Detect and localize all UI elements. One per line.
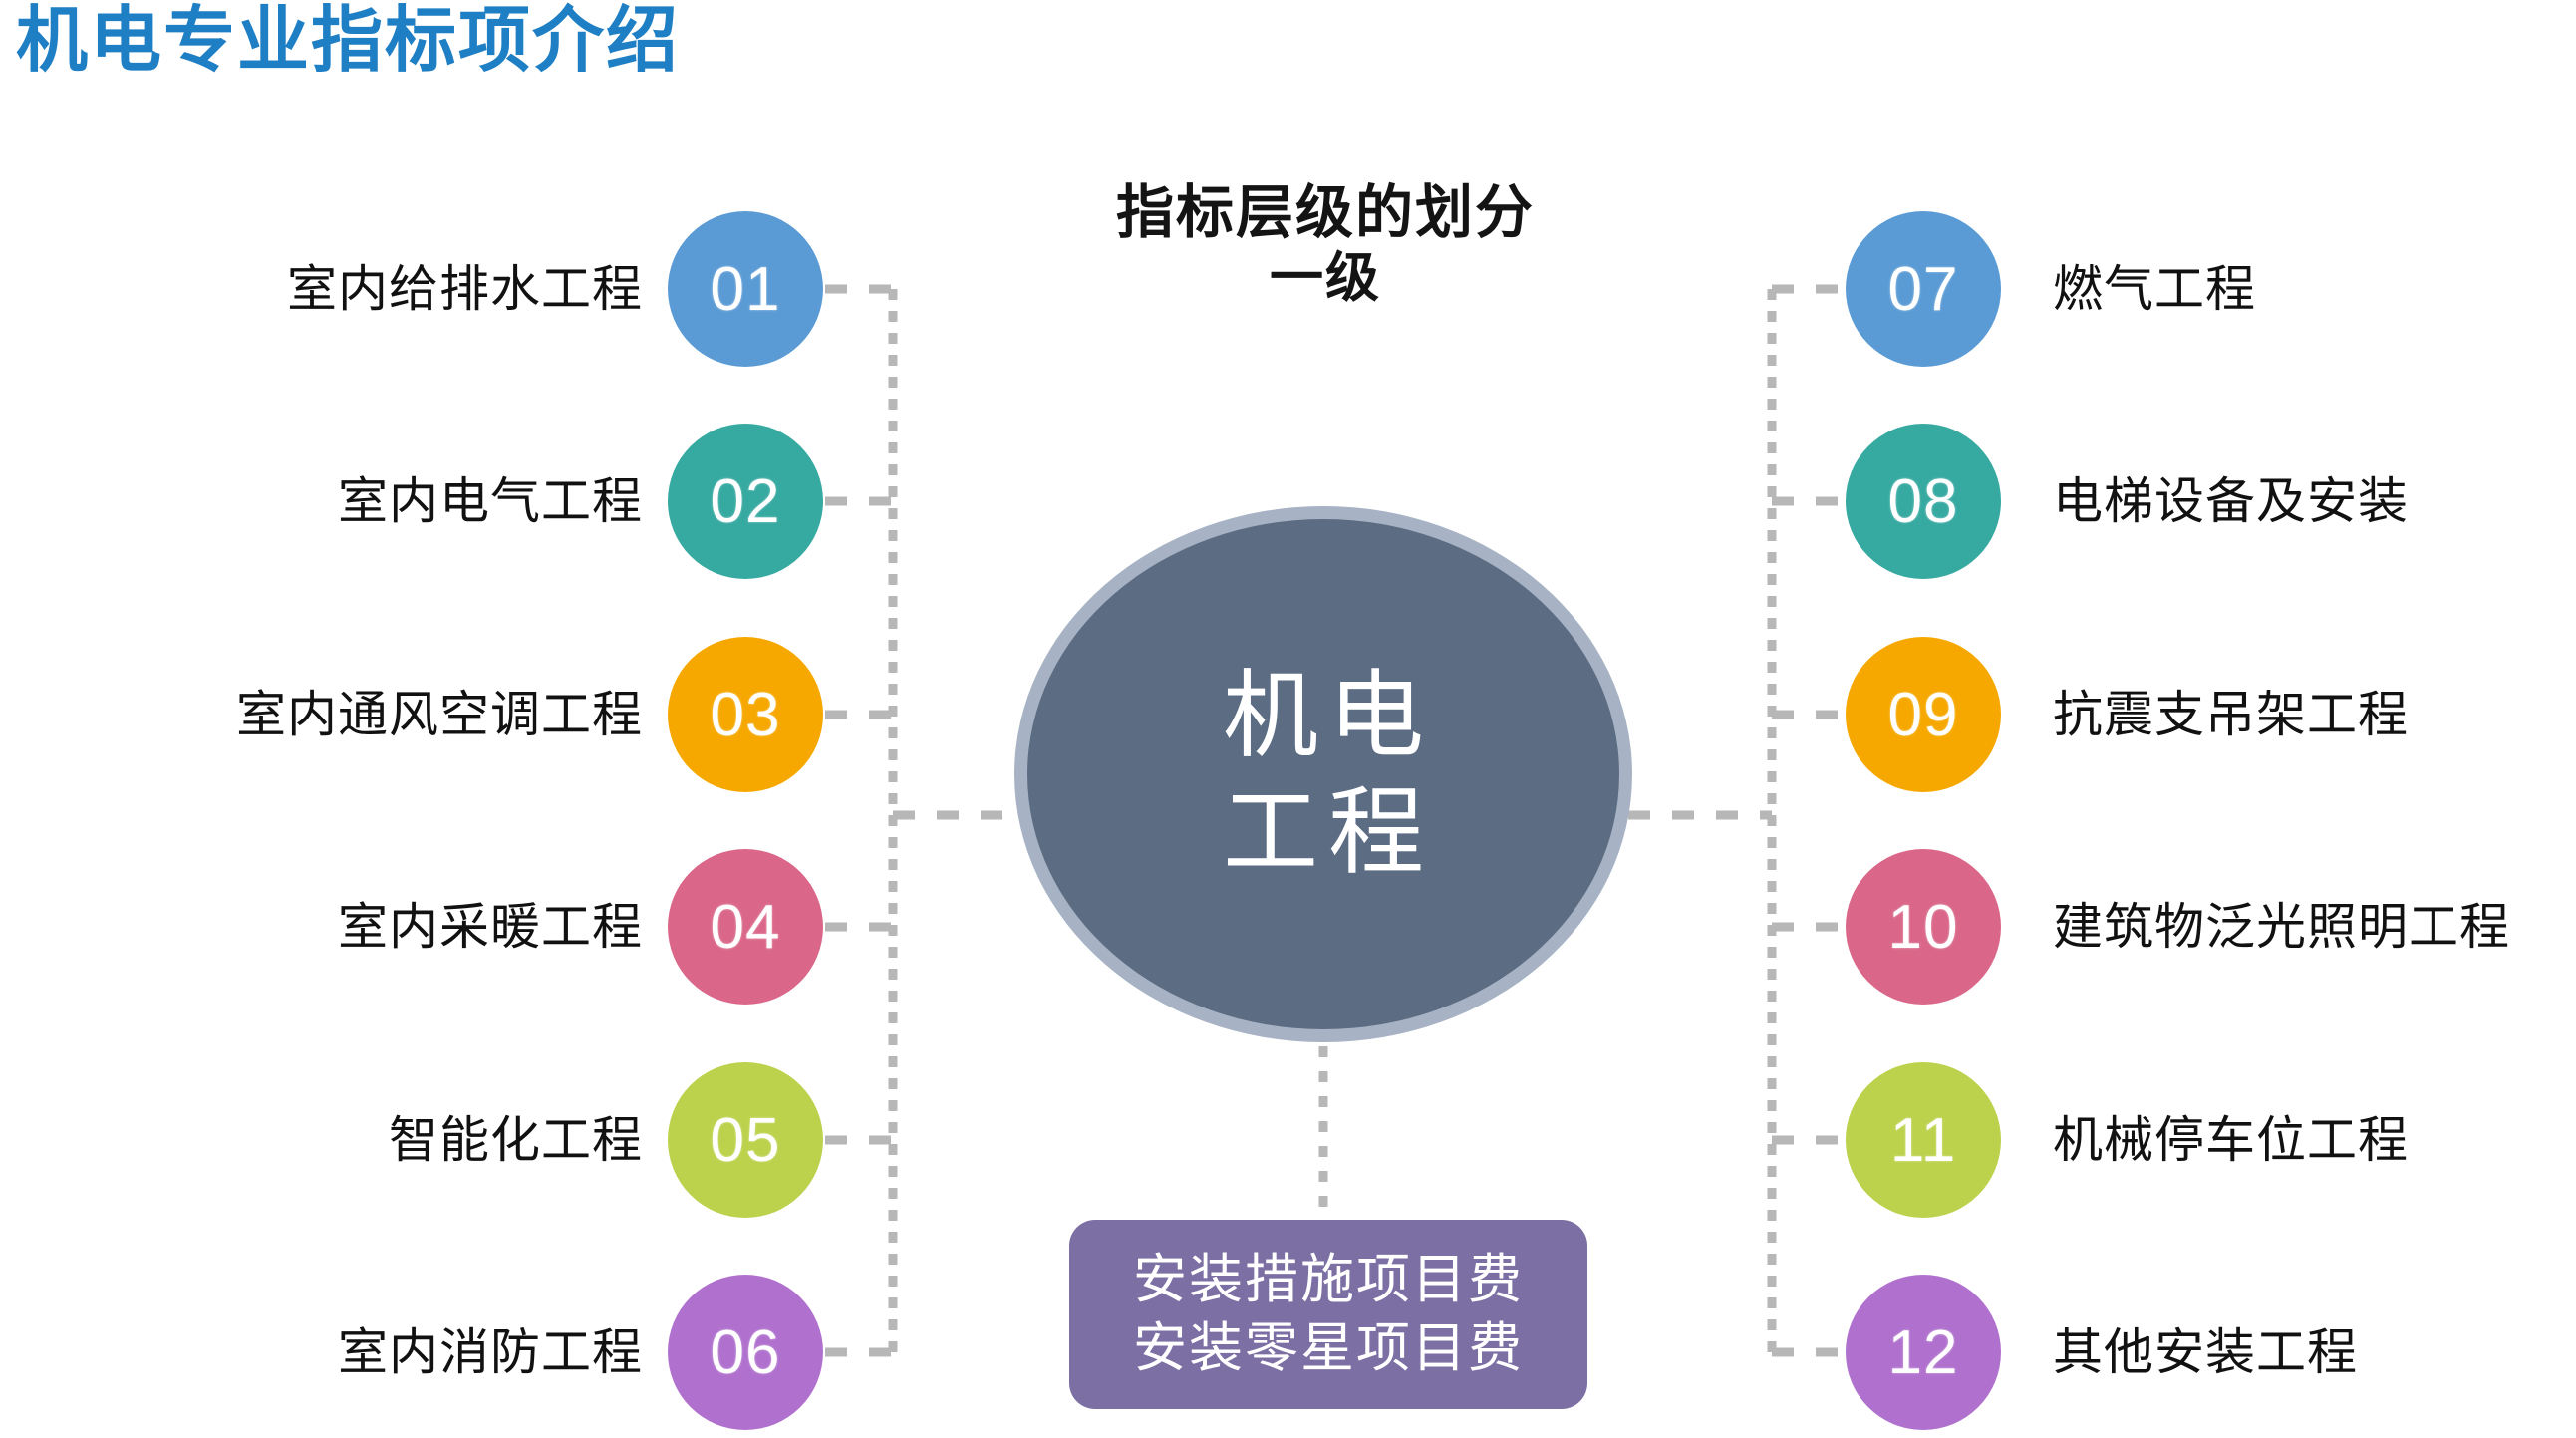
node-06-number: 06 bbox=[711, 1317, 781, 1388]
node-08-number: 08 bbox=[1888, 466, 1959, 537]
node-07[interactable]: 07 bbox=[1846, 211, 2001, 367]
node-05-label: 智能化工程 bbox=[389, 1115, 643, 1165]
node-03[interactable]: 03 bbox=[668, 637, 823, 792]
node-03-number: 03 bbox=[711, 680, 781, 750]
node-01-label: 室内给排水工程 bbox=[287, 264, 643, 314]
center-hub: 机电 工程 bbox=[1014, 506, 1632, 1042]
node-04[interactable]: 04 bbox=[668, 849, 823, 1005]
node-04-label: 室内采暖工程 bbox=[338, 902, 643, 952]
node-02-label: 室内电气工程 bbox=[338, 476, 643, 526]
node-11[interactable]: 11 bbox=[1846, 1062, 2001, 1218]
slide-canvas: 机电专业指标项介绍 指标层级的划分 一级 bbox=[0, 0, 2576, 1438]
node-05[interactable]: 05 bbox=[668, 1062, 823, 1218]
node-10-number: 10 bbox=[1888, 892, 1959, 963]
node-08[interactable]: 08 bbox=[1846, 424, 2001, 579]
node-09[interactable]: 09 bbox=[1846, 637, 2001, 792]
node-01[interactable]: 01 bbox=[668, 211, 823, 367]
node-01-number: 01 bbox=[711, 254, 781, 325]
node-05-number: 05 bbox=[711, 1105, 781, 1176]
note-box-line-1: 安装措施项目费 bbox=[1133, 1246, 1524, 1314]
node-09-label: 抗震支吊架工程 bbox=[2053, 690, 2409, 739]
node-06[interactable]: 06 bbox=[668, 1275, 823, 1430]
note-box: 安装措施项目费 安装零星项目费 bbox=[1069, 1220, 1587, 1409]
node-02-number: 02 bbox=[711, 466, 781, 537]
node-09-number: 09 bbox=[1888, 680, 1959, 750]
node-12-number: 12 bbox=[1888, 1317, 1959, 1388]
node-04-number: 04 bbox=[711, 892, 781, 963]
hub-line-1: 机电 bbox=[1213, 658, 1434, 774]
node-07-label: 燃气工程 bbox=[2053, 264, 2256, 314]
node-06-label: 室内消防工程 bbox=[338, 1327, 643, 1377]
node-07-number: 07 bbox=[1888, 254, 1959, 325]
note-box-line-2: 安装零星项目费 bbox=[1133, 1314, 1524, 1383]
hub-line-2: 工程 bbox=[1213, 774, 1434, 891]
node-12-label: 其他安装工程 bbox=[2053, 1327, 2358, 1377]
node-02[interactable]: 02 bbox=[668, 424, 823, 579]
node-11-number: 11 bbox=[1890, 1105, 1956, 1176]
node-08-label: 电梯设备及安装 bbox=[2053, 476, 2409, 526]
node-03-label: 室内通风空调工程 bbox=[236, 690, 643, 739]
node-12[interactable]: 12 bbox=[1846, 1275, 2001, 1430]
node-10[interactable]: 10 bbox=[1846, 849, 2001, 1005]
node-10-label: 建筑物泛光照明工程 bbox=[2053, 902, 2510, 952]
node-11-label: 机械停车位工程 bbox=[2053, 1115, 2409, 1165]
